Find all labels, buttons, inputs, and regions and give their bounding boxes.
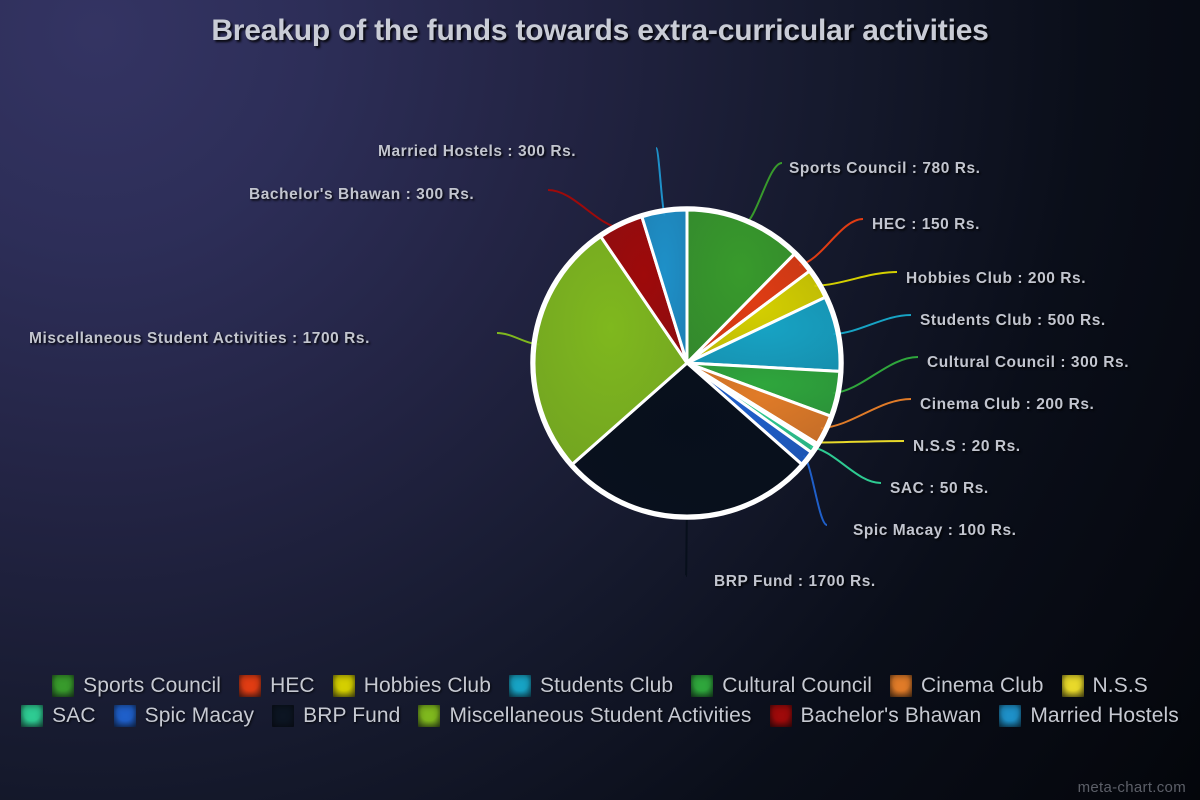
legend-swatch-icon <box>1062 675 1084 697</box>
legend-swatch-icon <box>890 675 912 697</box>
leader-line <box>815 272 898 286</box>
legend-item[interactable]: Spic Macay <box>114 702 255 730</box>
legend-label: BRP Fund <box>303 704 400 728</box>
pie-slice[interactable]: Miscellaneous Student Activities : 1700 … <box>534 237 687 465</box>
leader-lines-group <box>497 148 918 576</box>
pie-slice[interactable]: Spic Macay : 100 Rs. <box>687 363 811 464</box>
legend-item[interactable]: Sports Council <box>52 672 221 700</box>
legend-swatch-icon <box>52 675 74 697</box>
pie-slice[interactable]: Bachelor's Bhawan : 300 Rs. <box>601 217 687 363</box>
legend-swatch-icon <box>114 705 136 727</box>
slice-label-spic-macay: Spic Macay : 100 Rs. <box>853 522 1017 540</box>
pie-slice[interactable]: SAC : 50 Rs. <box>687 363 816 452</box>
pie-slice[interactable]: N.S.S : 20 Rs. <box>687 363 817 446</box>
legend-swatch-icon <box>333 675 355 697</box>
leader-line <box>833 315 911 334</box>
pie-slice[interactable]: Married Hostels : 300 Rs. <box>642 210 687 363</box>
slice-label-sports-council: Sports Council : 780 Rs. <box>789 160 981 178</box>
leader-line <box>656 148 665 216</box>
pie-slice[interactable]: Students Club : 500 Rs. <box>687 297 840 371</box>
slice-label-students-club: Students Club : 500 Rs. <box>920 312 1106 330</box>
slice-label-miscellaneous: Miscellaneous Student Activities : 1700 … <box>29 330 370 348</box>
legend-label: HEC <box>270 674 315 698</box>
legend-item[interactable]: Students Club <box>509 672 673 700</box>
leader-line <box>799 219 863 265</box>
legend-item[interactable]: HEC <box>239 672 315 700</box>
slice-label-hobbies-club: Hobbies Club : 200 Rs. <box>906 270 1086 288</box>
legend-item[interactable]: Bachelor's Bhawan <box>770 702 982 730</box>
legend-swatch-icon <box>691 675 713 697</box>
pie-slices-group: Sports Council : 780 Rs.HEC : 150 Rs.Hob… <box>534 210 840 516</box>
legend-item[interactable]: N.S.S <box>1062 672 1148 700</box>
slice-label-brp-fund: BRP Fund : 1700 Rs. <box>714 573 876 591</box>
watermark: meta-chart.com <box>1078 779 1186 796</box>
legend-label: Cultural Council <box>722 674 872 698</box>
pie-slice[interactable]: Sports Council : 780 Rs. <box>687 210 794 363</box>
chart-legend: Sports CouncilHECHobbies ClubStudents Cl… <box>0 672 1200 730</box>
leader-line <box>833 357 918 393</box>
leader-line <box>497 333 539 345</box>
slice-label-sac: SAC : 50 Rs. <box>890 480 989 498</box>
chart-canvas: Breakup of the funds towards extra-curri… <box>0 0 1200 800</box>
leader-line <box>810 447 881 483</box>
slice-label-cinema-club: Cinema Club : 200 Rs. <box>920 396 1094 414</box>
legend-label: Students Club <box>540 674 673 698</box>
pie-slice[interactable]: Cinema Club : 200 Rs. <box>687 363 831 443</box>
slice-label-cultural-council: Cultural Council : 300 Rs. <box>927 354 1129 372</box>
legend-swatch-icon <box>21 705 43 727</box>
pie-outline-ring <box>532 208 842 518</box>
legend-swatch-icon <box>999 705 1021 727</box>
leader-line <box>821 399 911 428</box>
legend-label: Sports Council <box>83 674 221 698</box>
legend-swatch-icon <box>770 705 792 727</box>
slice-label-nss: N.S.S : 20 Rs. <box>913 438 1021 456</box>
pie-slice[interactable]: HEC : 150 Rs. <box>687 254 809 363</box>
pie-slice[interactable]: BRP Fund : 1700 Rs. <box>572 363 801 516</box>
leader-line <box>813 441 904 443</box>
legend-item[interactable]: Miscellaneous Student Activities <box>418 702 751 730</box>
legend-label: Miscellaneous Student Activities <box>449 704 751 728</box>
slice-label-hec: HEC : 150 Rs. <box>872 216 980 234</box>
legend-swatch-icon <box>272 705 294 727</box>
legend-label: Spic Macay <box>145 704 255 728</box>
pie-slice[interactable]: Cultural Council : 300 Rs. <box>687 363 840 416</box>
legend-label: SAC <box>52 704 95 728</box>
legend-swatch-icon <box>509 675 531 697</box>
legend-item[interactable]: SAC <box>21 702 95 730</box>
legend-item[interactable]: Cultural Council <box>691 672 872 700</box>
legend-item[interactable]: BRP Fund <box>272 702 400 730</box>
leader-line <box>548 190 622 229</box>
leader-line <box>744 163 783 225</box>
legend-swatch-icon <box>239 675 261 697</box>
legend-label: N.S.S <box>1093 674 1148 698</box>
page-title: Breakup of the funds towards extra-curri… <box>0 14 1200 48</box>
legend-label: Bachelor's Bhawan <box>801 704 982 728</box>
legend-swatch-icon <box>418 705 440 727</box>
leader-line <box>804 456 828 525</box>
legend-label: Hobbies Club <box>364 674 491 698</box>
legend-item[interactable]: Married Hostels <box>999 702 1179 730</box>
slice-label-bachelors-bhawan: Bachelor's Bhawan : 300 Rs. <box>249 186 474 204</box>
slice-label-married-hostels: Married Hostels : 300 Rs. <box>378 143 576 161</box>
legend-item[interactable]: Cinema Club <box>890 672 1044 700</box>
leader-line <box>686 512 687 576</box>
legend-label: Cinema Club <box>921 674 1044 698</box>
legend-item[interactable]: Hobbies Club <box>333 672 491 700</box>
pie-slice[interactable]: Hobbies Club : 200 Rs. <box>687 271 825 363</box>
legend-label: Married Hostels <box>1030 704 1179 728</box>
